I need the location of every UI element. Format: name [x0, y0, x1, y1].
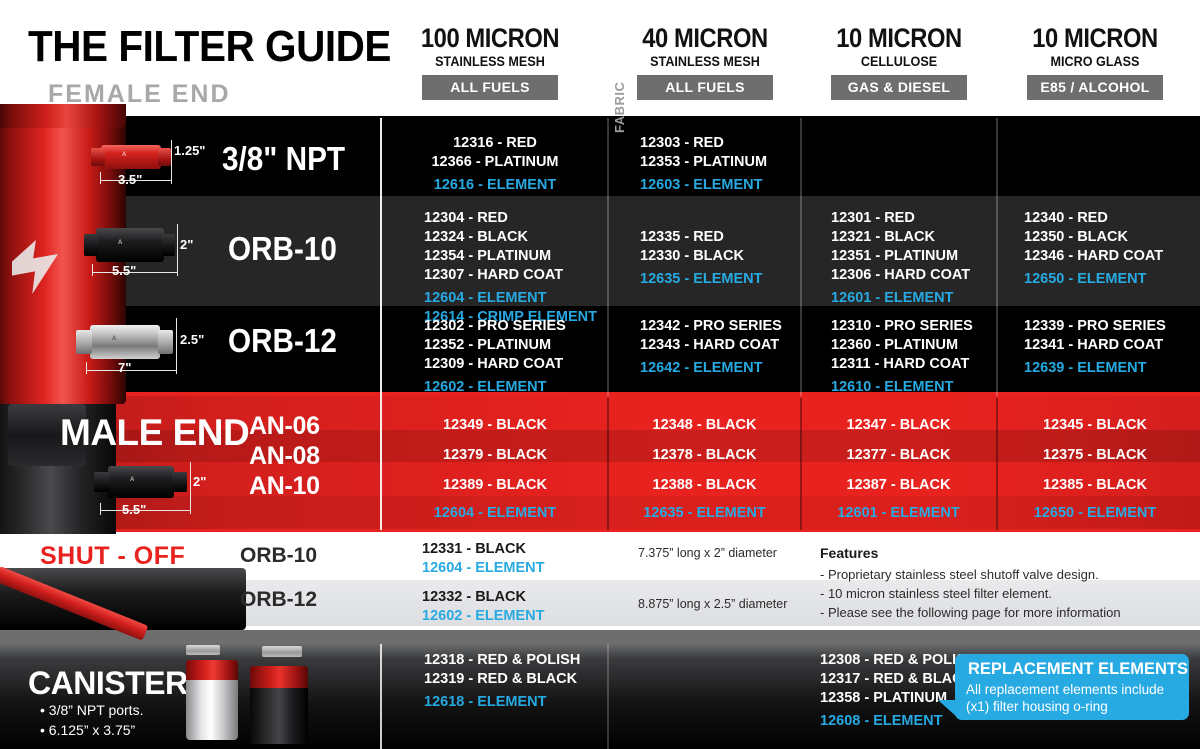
part-number: 12309 - HARD COAT — [424, 355, 624, 374]
part-number: 12324 - BLACK — [424, 228, 624, 247]
element-part-number: 12602 - ELEMENT — [422, 607, 545, 626]
row-label-orb10: ORB-10 — [228, 230, 337, 268]
element-part-number: 12602 - ELEMENT — [424, 378, 624, 397]
shutoff-orb10-spec: 7.375” long x 2” diameter — [638, 546, 777, 560]
cell-orb12-100micron: 12302 - PRO SERIES 12352 - PLATINUM 1230… — [424, 317, 624, 397]
part-number: 12310 - PRO SERIES — [831, 317, 1021, 336]
features-heading: Features — [820, 545, 878, 561]
cell-male-element-10micron-cellulose: 12601 - ELEMENT — [806, 504, 991, 523]
column-divider-1-canister — [380, 644, 382, 749]
part-number: 12307 - HARD COAT — [424, 266, 624, 285]
canister-title: CANISTER — [28, 665, 188, 702]
dim-tick-male-right — [190, 462, 191, 514]
part-number: 12345 - BLACK — [1000, 416, 1190, 435]
part-number: 12360 - PLATINUM — [831, 336, 1021, 355]
column-header-100-micron: 100 MICRON STAINLESS MESH ALL FUELS — [392, 24, 588, 100]
cell-an10-100micron: 12389 - BLACK — [390, 476, 600, 495]
element-part-number: 12639 - ELEMENT — [1024, 359, 1200, 378]
part-number: 12352 - PLATINUM — [424, 336, 624, 355]
dim-line-npt-dia — [171, 140, 172, 172]
part-number: 12318 - RED & POLISH — [424, 651, 624, 670]
column-micron-label: 40 MICRON — [619, 24, 791, 52]
column-fuel-badge: ALL FUELS — [422, 75, 558, 100]
element-part-number: 12603 - ELEMENT — [640, 176, 810, 195]
part-number: 12343 - HARD COAT — [640, 336, 830, 355]
cell-shutoff-orb12-part: 12332 - BLACK 12602 - ELEMENT — [422, 588, 545, 626]
feature-item-2: - 10 micron stainless steel filter eleme… — [820, 584, 1052, 603]
male-end-title: MALE END — [60, 412, 249, 454]
cell-orb10-10micron-cellulose: 12301 - RED 12321 - BLACK 12351 - PLATIN… — [831, 209, 1011, 308]
dim-tick-orb12-right — [176, 318, 177, 374]
part-number: 12316 - RED — [390, 134, 600, 153]
dim-npt-diameter: 1.25" — [174, 143, 205, 158]
canister-bracket-2 — [262, 646, 302, 657]
part-number: 12342 - PRO SERIES — [640, 317, 830, 336]
part-number: 12366 - PLATINUM — [390, 153, 600, 172]
dim-orb12-length: 7" — [118, 360, 131, 375]
cell-an08-100micron: 12379 - BLACK — [390, 446, 600, 465]
cell-orb12-40micron: 12342 - PRO SERIES 12343 - HARD COAT 126… — [640, 317, 830, 378]
element-part-number: 12601 - ELEMENT — [831, 289, 1011, 308]
cell-an08-40micron: 12378 - BLACK — [612, 446, 797, 465]
column-header-40-micron: 40 MICRON STAINLESS MESH ALL FUELS — [607, 24, 803, 100]
column-fuel-badge: ALL FUELS — [637, 75, 773, 100]
element-part-number: 12604 - ELEMENT — [390, 504, 600, 523]
row-label-orb12: ORB-12 — [228, 322, 337, 360]
cell-an10-10micron-cellulose: 12387 - BLACK — [806, 476, 991, 495]
gray-separator — [0, 630, 1200, 644]
part-number: 12340 - RED — [1024, 209, 1200, 228]
element-part-number: 12601 - ELEMENT — [806, 504, 991, 523]
dim-tick-orb10-left — [92, 264, 93, 276]
row-label-an10: AN-10 — [249, 472, 320, 501]
canister-bullet-2: • 6.125” x 3.75” — [40, 720, 143, 740]
dim-male-length: 5.5" — [122, 502, 146, 517]
part-number: 12303 - RED — [640, 134, 810, 153]
element-part-number: 12604 - ELEMENT — [424, 289, 624, 308]
part-number: 12348 - BLACK — [612, 416, 797, 435]
part-number: 12311 - HARD COAT — [831, 355, 1021, 374]
dim-orb10-diameter: 2" — [180, 237, 193, 252]
dim-tick-npt-left — [100, 172, 101, 184]
column-material-label: MICRO GLASS — [1007, 53, 1183, 69]
column-micron-label: 100 MICRON — [404, 24, 576, 52]
element-part-number: 12616 - ELEMENT — [390, 176, 600, 195]
canister-bullet-1: • 3/8” NPT ports. — [40, 700, 143, 720]
canister-bracket-1 — [186, 645, 220, 655]
product-art-red-canister-top — [0, 104, 126, 128]
part-number: 12331 - BLACK — [422, 540, 545, 559]
part-number: 12332 - BLACK — [422, 588, 545, 607]
cell-male-element-40micron: 12635 - ELEMENT — [612, 504, 797, 523]
column-divider-1 — [380, 118, 382, 530]
column-fuel-badge: GAS & DIESEL — [831, 75, 967, 100]
part-number: 12319 - RED & BLACK — [424, 670, 624, 689]
column-material-label: STAINLESS MESH — [402, 53, 578, 69]
row-label-an06: AN-06 — [249, 412, 320, 441]
row-label-npt: 3/8" NPT — [222, 140, 345, 178]
part-number: 12335 - RED — [640, 228, 820, 247]
product-art-canister-black-cap — [250, 666, 308, 688]
element-part-number: 12610 - ELEMENT — [831, 378, 1021, 397]
cell-shutoff-orb10-part: 12331 - BLACK 12604 - ELEMENT — [422, 540, 545, 578]
part-number: 12346 - HARD COAT — [1024, 247, 1200, 266]
element-part-number: 12642 - ELEMENT — [640, 359, 830, 378]
dim-npt-length: 3.5" — [118, 172, 142, 187]
column-header-10-micron-micro-glass: 10 MICRON MICRO GLASS E85 / ALCOHOL — [997, 24, 1193, 100]
part-number: 12377 - BLACK — [806, 446, 991, 465]
part-number: 12321 - BLACK — [831, 228, 1011, 247]
cell-an06-10micron-microglass: 12345 - BLACK — [1000, 416, 1190, 435]
dim-tick-orb12-left — [86, 362, 87, 374]
cell-orb12-10micron-cellulose: 12310 - PRO SERIES 12360 - PLATINUM 1231… — [831, 317, 1021, 397]
part-number: 12378 - BLACK — [612, 446, 797, 465]
cell-an10-10micron-microglass: 12385 - BLACK — [1000, 476, 1190, 495]
part-number: 12350 - BLACK — [1024, 228, 1200, 247]
part-number: 12354 - PLATINUM — [424, 247, 624, 266]
cell-an06-100micron: 12349 - BLACK — [390, 416, 600, 435]
part-number: 12330 - BLACK — [640, 247, 820, 266]
cell-npt-100micron: 12316 - RED 12366 - PLATINUM 12616 - ELE… — [390, 134, 600, 195]
product-art-canister-polish-cap — [186, 660, 238, 680]
cell-canister-100micron: 12318 - RED & POLISH 12319 - RED & BLACK… — [424, 651, 624, 712]
element-part-number: 12635 - ELEMENT — [612, 504, 797, 523]
callout-body: All replacement elements include (x1) fi… — [966, 681, 1182, 715]
column-micron-label: 10 MICRON — [813, 24, 985, 52]
column-material-label: CELLULOSE — [811, 53, 987, 69]
part-number: 12351 - PLATINUM — [831, 247, 1011, 266]
callout-heading: REPLACEMENT ELEMENTS — [968, 660, 1180, 679]
cell-an06-10micron-cellulose: 12347 - BLACK — [806, 416, 991, 435]
feature-item-1: - Proprietary stainless steel shutoff va… — [820, 565, 1099, 584]
red-separator-bottom — [0, 529, 1200, 532]
column-divider-2-male — [607, 398, 609, 530]
canister-specs: • 3/8” NPT ports. • 6.125” x 3.75” — [40, 700, 143, 740]
column-micron-label: 10 MICRON — [1009, 24, 1181, 52]
shut-off-title: SHUT - OFF — [40, 542, 185, 571]
element-part-number: 12650 - ELEMENT — [1000, 504, 1190, 523]
part-number: 12375 - BLACK — [1000, 446, 1190, 465]
dim-tick-orb10-right — [177, 224, 178, 276]
column-divider-3-male — [800, 398, 802, 530]
cell-an08-10micron-cellulose: 12377 - BLACK — [806, 446, 991, 465]
filter-guide-page: THE FILTER GUIDE FEMALE END 100 MICRON S… — [0, 0, 1200, 749]
cell-orb12-10micron-microglass: 12339 - PRO SERIES 12341 - HARD COAT 126… — [1024, 317, 1200, 378]
fabric-tag: FABRIC — [612, 82, 627, 133]
column-header-10-micron-cellulose: 10 MICRON CELLULOSE GAS & DIESEL — [801, 24, 997, 100]
cell-an08-10micron-microglass: 12375 - BLACK — [1000, 446, 1190, 465]
element-part-number: 12650 - ELEMENT — [1024, 270, 1200, 289]
part-number: 12379 - BLACK — [390, 446, 600, 465]
part-number: 12304 - RED — [424, 209, 624, 228]
column-fuel-badge: E85 / ALCOHOL — [1027, 75, 1163, 100]
cell-male-element-100micron: 12604 - ELEMENT — [390, 504, 600, 523]
part-number: 12301 - RED — [831, 209, 1011, 228]
part-number: 12389 - BLACK — [390, 476, 600, 495]
part-number: 12353 - PLATINUM — [640, 153, 810, 172]
cell-orb10-100micron: 12304 - RED 12324 - BLACK 12354 - PLATIN… — [424, 209, 624, 327]
cell-male-element-10micron-microglass: 12650 - ELEMENT — [1000, 504, 1190, 523]
part-number: 12387 - BLACK — [806, 476, 991, 495]
part-number: 12349 - BLACK — [390, 416, 600, 435]
part-number: 12306 - HARD COAT — [831, 266, 1011, 285]
part-number: 12341 - HARD COAT — [1024, 336, 1200, 355]
cell-orb10-40micron: 12335 - RED 12330 - BLACK 12635 - ELEMEN… — [640, 228, 820, 289]
part-number: 12302 - PRO SERIES — [424, 317, 624, 336]
part-number: 12388 - BLACK — [612, 476, 797, 495]
dim-orb12-diameter: 2.5" — [180, 332, 204, 347]
part-number: 12347 - BLACK — [806, 416, 991, 435]
cell-npt-40micron: 12303 - RED 12353 - PLATINUM 12603 - ELE… — [640, 134, 810, 195]
feature-item-3: - Please see the following page for more… — [820, 603, 1121, 622]
row-label-shutoff-orb12: ORB-12 — [240, 588, 317, 612]
cell-an10-40micron: 12388 - BLACK — [612, 476, 797, 495]
page-header: THE FILTER GUIDE FEMALE END 100 MICRON S… — [0, 0, 1200, 116]
part-number: 12385 - BLACK — [1000, 476, 1190, 495]
column-divider-4-male — [996, 398, 998, 530]
row-label-an08: AN-08 — [249, 442, 320, 471]
part-number: 12339 - PRO SERIES — [1024, 317, 1200, 336]
dim-orb10-length: 5.5" — [112, 263, 136, 278]
cell-an06-40micron: 12348 - BLACK — [612, 416, 797, 435]
element-part-number: 12635 - ELEMENT — [640, 270, 820, 289]
element-part-number: 12604 - ELEMENT — [422, 559, 545, 578]
cell-orb10-10micron-microglass: 12340 - RED 12350 - BLACK 12346 - HARD C… — [1024, 209, 1200, 289]
element-part-number: 12618 - ELEMENT — [424, 693, 624, 712]
page-title: THE FILTER GUIDE — [28, 22, 391, 72]
shutoff-orb12-spec: 8.875” long x 2.5” diameter — [638, 597, 787, 611]
row-label-shutoff-orb10: ORB-10 — [240, 544, 317, 568]
dim-male-diameter: 2" — [193, 474, 206, 489]
dim-tick-male-left — [100, 503, 101, 515]
column-material-label: STAINLESS MESH — [617, 53, 793, 69]
